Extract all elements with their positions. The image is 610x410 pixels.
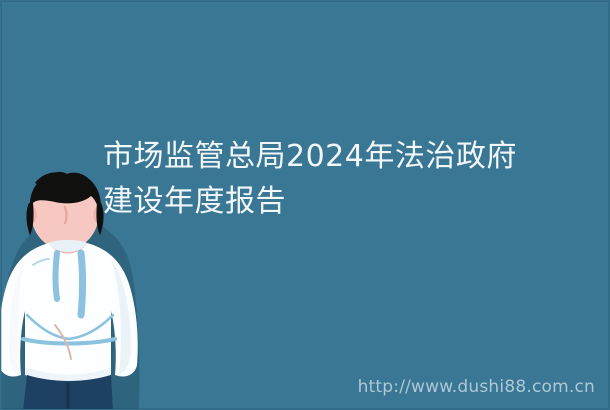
drawstring-left <box>56 253 58 299</box>
title-line-1: 市场监管总局2024年法治政府 <box>103 134 573 179</box>
watermark-url: http://www.dushi88.com.cn <box>358 377 595 397</box>
title-line-2: 建设年度报告 <box>103 179 573 224</box>
poster-canvas: 市场监管总局2024年法治政府 建设年度报告 http://www.dushi8… <box>0 0 610 410</box>
drawstring-right <box>81 253 83 315</box>
poster-title: 市场监管总局2024年法治政府 建设年度报告 <box>103 134 573 224</box>
